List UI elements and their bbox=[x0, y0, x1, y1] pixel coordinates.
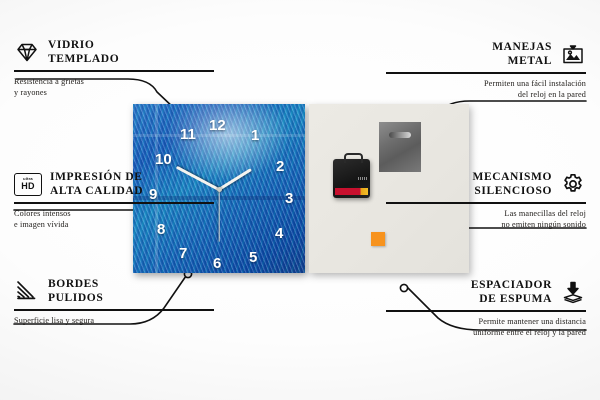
callout-bordes-pulidos: BORDES PULIDOS Superficie lisa y segura bbox=[14, 277, 214, 326]
mechanism-label bbox=[335, 188, 368, 195]
callout-impresion-alta-calidad: ultra HD IMPRESIÓN DE ALTA CALIDAD Color… bbox=[14, 170, 214, 230]
callout-rule bbox=[386, 72, 586, 74]
ultra-hd-icon: ultra HD bbox=[14, 173, 42, 196]
callout-description: uniforme entre el reloj y la pared bbox=[386, 327, 586, 338]
clock-numeral: 4 bbox=[275, 226, 283, 241]
clock-numeral: 6 bbox=[213, 256, 221, 271]
ultra-hd-icon-main-text: HD bbox=[21, 182, 34, 191]
clock-center-hub bbox=[217, 187, 222, 192]
clock-hour-hand bbox=[218, 168, 252, 191]
callout-title: MANEJAS bbox=[492, 40, 552, 54]
callout-title: ALTA CALIDAD bbox=[50, 184, 143, 198]
polished-edge-icon bbox=[14, 279, 40, 303]
callout-vidrio-templado: VIDRIO TEMPLADO Resistencia a grietas y … bbox=[14, 38, 214, 98]
callout-description: e imagen vívida bbox=[14, 219, 214, 230]
clock-numeral: 2 bbox=[276, 159, 284, 174]
clock-second-hand bbox=[218, 190, 219, 242]
foam-spacer bbox=[371, 232, 385, 246]
mechanism-hanging-loop bbox=[344, 153, 363, 163]
callout-description: Colores intensos bbox=[14, 208, 214, 219]
clock-numeral: 7 bbox=[179, 246, 187, 261]
clock-numeral: 11 bbox=[180, 127, 196, 142]
callout-title: TEMPLADO bbox=[48, 52, 119, 66]
clock-numeral: 3 bbox=[285, 191, 293, 206]
clock-numeral: 1 bbox=[251, 128, 259, 143]
callout-title: VIDRIO bbox=[48, 38, 119, 52]
infographic-canvas: 12 1 2 3 4 5 6 7 8 9 10 11 bbox=[0, 0, 600, 400]
callout-description: y rayones bbox=[14, 87, 214, 98]
gear-icon bbox=[560, 172, 586, 196]
clock-mechanism bbox=[333, 159, 370, 198]
callout-description: Resistencia a grietas bbox=[14, 76, 214, 87]
callout-mecanismo-silencioso: MECANISMO SILENCIOSO Las manecillas del … bbox=[386, 170, 586, 230]
callout-description: no emiten ningún sonido bbox=[386, 219, 586, 230]
clock-numeral: 5 bbox=[249, 250, 257, 265]
callout-description: del reloj en la pared bbox=[386, 89, 586, 100]
clock-numeral: 12 bbox=[209, 118, 226, 133]
callout-rule bbox=[14, 202, 214, 204]
down-arrow-stack-icon bbox=[560, 280, 586, 304]
hanging-picture-frame-icon bbox=[560, 42, 586, 66]
callout-description: Permite mantener una distancia bbox=[386, 316, 586, 327]
callout-rule bbox=[386, 310, 586, 312]
clock-numeral: 10 bbox=[155, 152, 172, 167]
callout-title: BORDES bbox=[48, 277, 103, 291]
mechanism-detail bbox=[358, 177, 367, 180]
callout-title: ESPACIADOR bbox=[471, 278, 552, 292]
callout-description: Superficie lisa y segura bbox=[14, 315, 214, 326]
callout-title: METAL bbox=[492, 54, 552, 68]
callout-espaciador-espuma: ESPACIADOR DE ESPUMA Permite mantener un… bbox=[386, 278, 586, 338]
callout-title: DE ESPUMA bbox=[471, 292, 552, 306]
callout-rule bbox=[14, 70, 214, 72]
callout-title: MECANISMO bbox=[472, 170, 552, 184]
callout-description: Las manecillas del reloj bbox=[386, 208, 586, 219]
callout-rule bbox=[14, 309, 214, 311]
callout-manejas-metal: MANEJAS METAL Permiten una fácil instala… bbox=[386, 40, 586, 100]
diamond-icon bbox=[14, 40, 40, 64]
hanger-slot bbox=[389, 132, 411, 138]
metal-hanger-plate bbox=[379, 122, 421, 172]
callout-rule bbox=[386, 202, 586, 204]
callout-description: Permiten una fácil instalación bbox=[386, 78, 586, 89]
callout-title: SILENCIOSO bbox=[472, 184, 552, 198]
callout-title: PULIDOS bbox=[48, 291, 103, 305]
callout-title: IMPRESIÓN DE bbox=[50, 170, 143, 184]
